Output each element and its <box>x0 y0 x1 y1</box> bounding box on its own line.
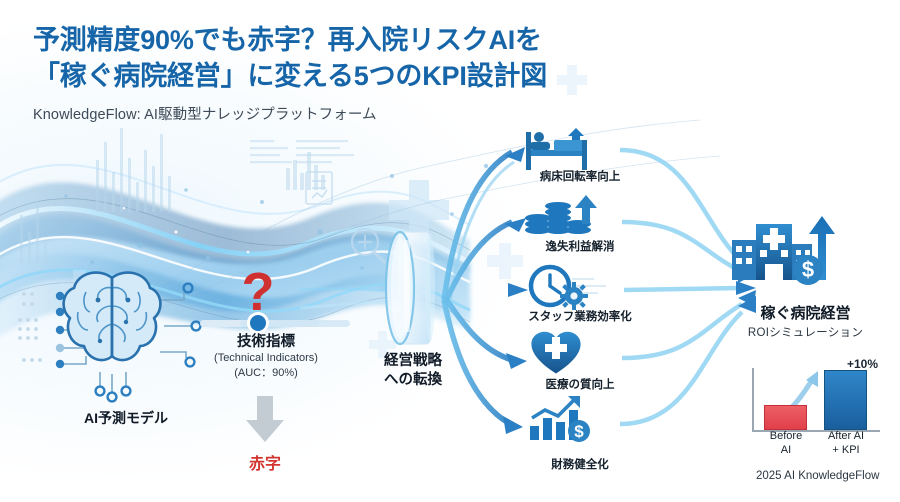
kpi-item-3: スタッフ業務効率化 <box>515 306 645 324</box>
background-report-icon <box>306 172 332 204</box>
strategy-transform-line1: 経営戦略 <box>358 352 468 371</box>
clock-gear-icon <box>531 267 588 310</box>
footer-note: 2025 AI KnowledgeFlow <box>756 470 879 482</box>
roi-delta-annotation: +10% <box>847 357 878 371</box>
kpi-label-2: 逸失利益解消 <box>515 238 645 254</box>
svg-text:$: $ <box>574 422 584 441</box>
roi-axis-vertical <box>752 368 754 430</box>
roi-bar-before <box>764 405 807 430</box>
result-block: 稼ぐ病院経営 ROIシミュレーション <box>718 212 893 340</box>
technical-indicator-block: 技術指標 (Technical Indicators) (AUC：90%) <box>186 330 346 380</box>
fanout-arrows <box>300 147 528 434</box>
kpi-label-3: スタッフ業務効率化 <box>515 308 645 324</box>
deficit-label: 赤字 <box>210 450 320 474</box>
svg-text:?: ? <box>242 262 275 322</box>
strategy-transform-label: 経営戦略 への転換 <box>358 352 468 389</box>
kpi-item-4: 医療の質向上 <box>515 374 645 392</box>
lens-prism-icon <box>386 232 435 344</box>
title-block: 予測精度90%でも赤字？再入院リスクAIを 「稼ぐ病院経営」に変える5つのKPI… <box>33 22 673 124</box>
kpi-label-5: 財務健全化 <box>515 456 645 472</box>
strategy-transform-line2: への転換 <box>358 371 468 390</box>
kpi-item-5: 財務健全化 <box>515 454 645 472</box>
coins-stack-up-icon <box>525 195 597 234</box>
page-title-line1: 予測精度90%でも赤字？再入院リスクAIを <box>33 22 673 58</box>
kpi-label-1: 病床回転率向上 <box>515 168 645 184</box>
result-title: 稼ぐ病院経営 <box>718 302 893 323</box>
arrow-down-icon <box>246 396 284 442</box>
background-dots-decor <box>64 164 488 270</box>
hospital-bed-up-icon <box>526 128 587 170</box>
roi-bar-chart: +10% BeforeAI After AI+ KPI <box>742 360 892 455</box>
kpi-item-2: 逸失利益解消 <box>515 236 645 254</box>
technical-indicator-title: 技術指標 <box>186 330 346 351</box>
kpi-label-4: 医療の質向上 <box>515 376 645 392</box>
page-title-line2: 「稼ぐ病院経営」に変える5つのKPI設計図 <box>33 58 673 94</box>
background-chart-decor <box>20 128 325 263</box>
kpi-item-1: 病床回転率向上 <box>515 166 645 184</box>
question-mark-icon: ? <box>242 262 275 322</box>
heart-cross-icon <box>531 332 580 374</box>
bar-chart-dollar-icon: $ <box>530 396 590 442</box>
background-text-lines-decor <box>250 140 606 294</box>
result-subtitle: ROIシミュレーション <box>718 324 893 340</box>
page-subtitle: KnowledgeFlow: AI駆動型ナレッジプラットフォーム <box>33 103 673 124</box>
infographic-canvas: ? <box>0 0 900 502</box>
roi-bar-label-after: After AI+ KPI <box>817 430 875 457</box>
technical-indicator-english: (Technical Indicators) <box>186 352 346 364</box>
technical-indicator-auc: (AUC：90%) <box>186 364 346 380</box>
roi-bar-label-before: BeforeAI <box>757 430 815 457</box>
magnifier-plus-icon <box>352 229 384 262</box>
roi-bar-after <box>824 370 867 430</box>
ai-model-label: AI予測モデル <box>36 408 216 428</box>
